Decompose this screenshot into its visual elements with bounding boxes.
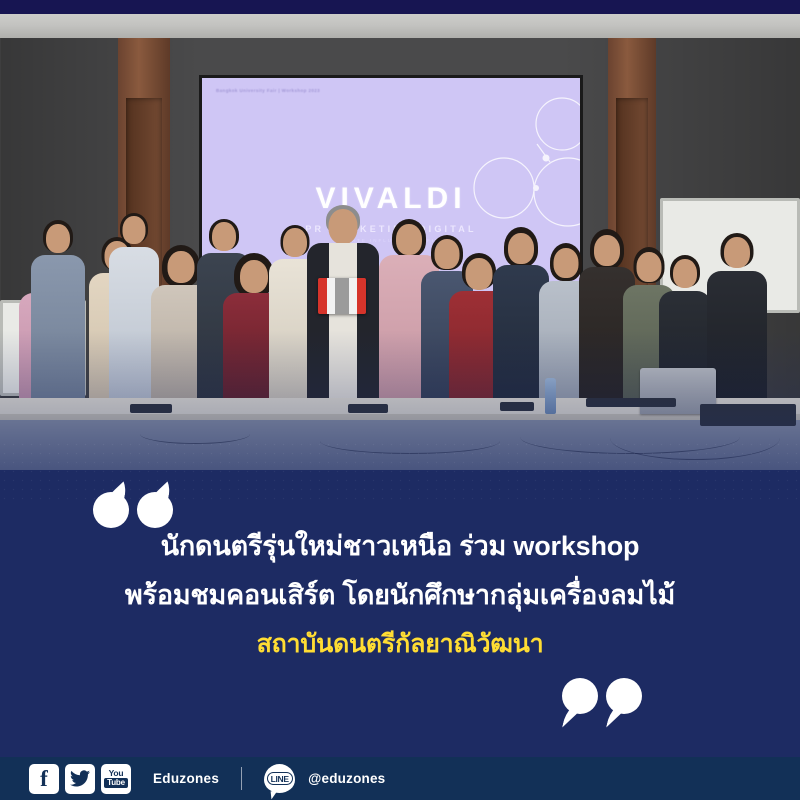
close-quote-icon bbox=[562, 678, 646, 734]
quote-block: นักดนตรีรุ่นใหม่ชาวเหนือ ร่วม workshop พ… bbox=[0, 0, 800, 800]
facebook-glyph: f bbox=[40, 767, 48, 790]
brand-label: Eduzones bbox=[153, 771, 219, 786]
line-glyph-label: LINE bbox=[267, 772, 293, 785]
facebook-icon[interactable]: f bbox=[29, 764, 59, 794]
social-icon-group: f You Tube bbox=[29, 764, 131, 794]
headline-line-2: พร้อมชมคอนเสิร์ต โดยนักศึกษากลุ่มเครื่อง… bbox=[0, 573, 800, 616]
line-icon[interactable]: LINE bbox=[264, 764, 295, 793]
footer-divider bbox=[241, 767, 242, 790]
youtube-icon[interactable]: You Tube bbox=[101, 764, 131, 794]
top-accent-bar bbox=[0, 0, 800, 14]
headline-line-3-institution: สถาบันดนตรีกัลยาณิวัฒนา bbox=[0, 624, 800, 664]
youtube-glyph-bottom: Tube bbox=[104, 778, 128, 788]
headline-line-1: นักดนตรีรุ่นใหม่ชาวเหนือ ร่วม workshop bbox=[0, 524, 800, 567]
footer-bar: f You Tube Eduzones LINE @eduzones bbox=[0, 757, 800, 800]
social-media-card: Bangkok University Fair | Workshop 2023 … bbox=[0, 0, 800, 800]
twitter-icon[interactable] bbox=[65, 764, 95, 794]
twitter-bird-glyph bbox=[70, 770, 90, 787]
youtube-glyph-top: You bbox=[109, 769, 124, 778]
line-handle-label: @eduzones bbox=[308, 771, 385, 786]
